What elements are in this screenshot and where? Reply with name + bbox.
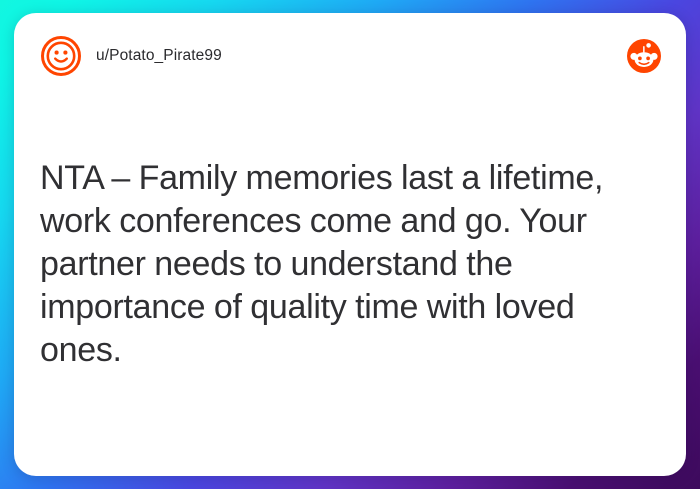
smiley-face-icon [40, 35, 82, 77]
card-header: u/Potato_Pirate99 [14, 13, 686, 99]
username-label: u/Potato_Pirate99 [96, 47, 222, 65]
quote-card: u/Potato_Pirate99 [14, 13, 686, 476]
quote-text: NTA – Family memories last a lifetime, w… [40, 157, 650, 372]
card-body: NTA – Family memories last a lifetime, w… [14, 99, 686, 476]
reddit-snoo-icon[interactable] [626, 38, 662, 74]
gradient-background: u/Potato_Pirate99 [0, 0, 700, 489]
